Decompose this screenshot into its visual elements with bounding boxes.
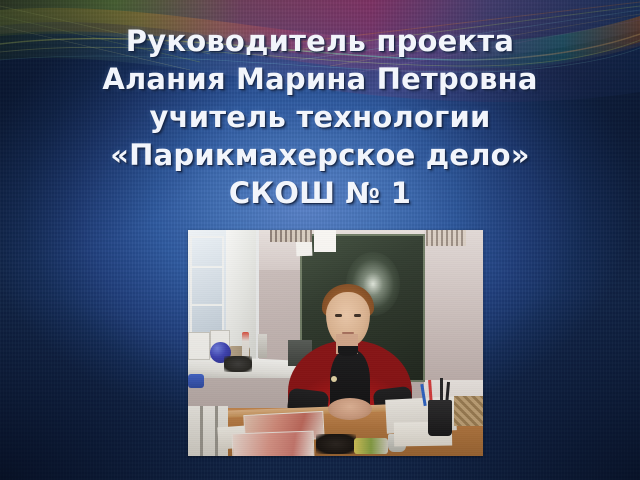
photo-person-eye-right xyxy=(354,314,361,317)
photo-wall-paper-2 xyxy=(314,230,336,252)
photo-jar xyxy=(258,334,267,358)
photo-cords xyxy=(224,356,252,372)
photo-scene xyxy=(188,230,483,456)
photo-blue-object xyxy=(188,374,204,388)
presentation-slide: Руководитель проекта Алания Марина Петро… xyxy=(0,0,640,480)
photo-person-eye-left xyxy=(335,314,342,317)
photo-window-mullion-1 xyxy=(190,266,224,268)
title-line-1: Руководитель проекта xyxy=(0,22,640,60)
photo-hair-samples xyxy=(316,434,356,454)
photo-magazine-2 xyxy=(232,431,315,456)
photo-lace-right xyxy=(426,230,466,246)
title-line-5: СКОШ № 1 xyxy=(0,174,640,212)
slide-title: Руководитель проекта Алания Марина Петро… xyxy=(0,22,640,212)
photo-right-wall xyxy=(424,230,483,388)
photo-person-hands xyxy=(328,398,372,420)
photo-lace-left xyxy=(270,230,312,242)
photo-curtain xyxy=(226,230,256,360)
photo-window-mullion-2 xyxy=(190,304,224,306)
title-line-4: «Парикмахерское дело» xyxy=(0,136,640,174)
photo-person-brooch xyxy=(331,376,337,382)
title-line-2: Алания Марина Петровна xyxy=(0,60,640,98)
photo-desk-item-green xyxy=(354,438,388,454)
photo-wicker-basket xyxy=(454,396,483,426)
photo-window-pane xyxy=(190,236,224,340)
teacher-photo xyxy=(188,230,483,456)
title-line-3: учитель технологии xyxy=(0,98,640,136)
photo-pen-holder xyxy=(428,400,452,436)
photo-bottle xyxy=(242,332,249,358)
photo-chair-divider-1 xyxy=(200,406,203,456)
photo-picture-frame-1 xyxy=(188,332,210,360)
photo-person-collar xyxy=(338,346,358,356)
